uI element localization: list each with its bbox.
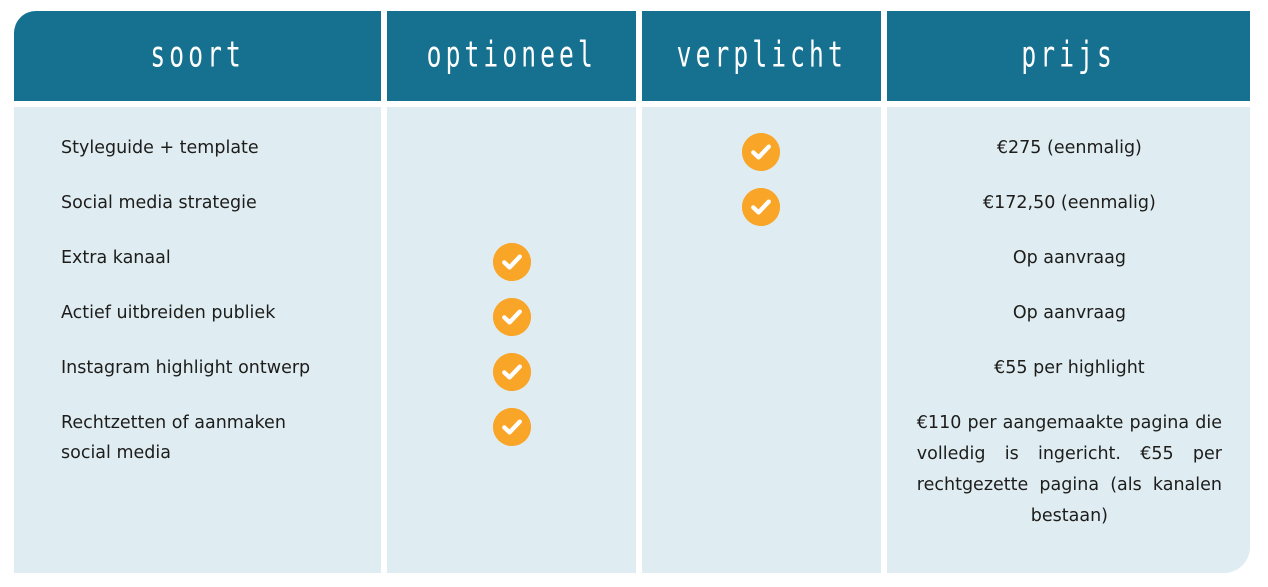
prijs-cell: €55 per highlight xyxy=(887,353,1250,383)
prijs-cell: €275 (eenmalig) xyxy=(887,133,1250,163)
column-header-label: verplicht xyxy=(676,38,846,73)
soort-value: Instagram highlight ontwerp xyxy=(61,358,310,378)
optioneel-cell xyxy=(387,408,636,446)
check-circle-icon xyxy=(493,298,531,336)
table-row: Instagram highlight ontwerp xyxy=(14,353,381,383)
prijs-cell: €110 per aangemaakte pagina die volledig… xyxy=(887,408,1250,532)
column-header-label: optioneel xyxy=(426,38,596,73)
check-circle-icon xyxy=(742,133,780,171)
prijs-cell: Op aanvraag xyxy=(887,243,1250,273)
column-header-label: soort xyxy=(150,38,245,73)
soort-value: Social media strategie xyxy=(61,193,257,213)
prijs-value: Op aanvraag xyxy=(1013,303,1126,323)
column-body-prijs: €275 (eenmalig) €172,50 (eenmalig) Op aa… xyxy=(887,107,1250,573)
column-header-soort: soort xyxy=(14,11,381,101)
optioneel-cell xyxy=(387,298,636,336)
column-body-optioneel xyxy=(387,107,636,573)
prijs-value: Op aanvraag xyxy=(1013,248,1126,268)
prijs-cell: Op aanvraag xyxy=(887,298,1250,328)
column-body-verplicht xyxy=(642,107,881,573)
check-circle-icon xyxy=(493,408,531,446)
column-header-verplicht: verplicht xyxy=(642,11,881,101)
check-circle-icon xyxy=(742,188,780,226)
table-row: Rechtzetten of aanmaken social media xyxy=(14,408,381,468)
prijs-value: €172,50 (eenmalig) xyxy=(983,193,1156,213)
prijs-value: €55 per highlight xyxy=(994,358,1145,378)
column-header-prijs: prijs xyxy=(887,11,1250,101)
soort-value: Extra kanaal xyxy=(61,248,171,268)
column-body-soort: Styleguide + template Social media strat… xyxy=(14,107,381,573)
table-body: Styleguide + template Social media strat… xyxy=(14,107,1250,573)
soort-value: Rechtzetten of aanmaken social media xyxy=(61,413,286,463)
check-circle-icon xyxy=(493,353,531,391)
table-row: Social media strategie xyxy=(14,188,381,218)
table-row: Actief uitbreiden publiek xyxy=(14,298,381,328)
optioneel-cell xyxy=(387,353,636,391)
optioneel-cell xyxy=(387,243,636,281)
prijs-cell: €172,50 (eenmalig) xyxy=(887,188,1250,218)
soort-value: Actief uitbreiden publiek xyxy=(61,303,275,323)
soort-value: Styleguide + template xyxy=(61,138,259,158)
prijs-value: €275 (eenmalig) xyxy=(997,138,1142,158)
column-header-optioneel: optioneel xyxy=(387,11,636,101)
table-row: Styleguide + template xyxy=(14,133,381,163)
column-header-label: prijs xyxy=(1021,38,1116,73)
table-row: Extra kanaal xyxy=(14,243,381,273)
check-circle-icon xyxy=(493,243,531,281)
pricing-table: soort optioneel verplicht prijs Stylegui… xyxy=(14,11,1250,573)
verplicht-cell xyxy=(642,133,881,171)
table-header-row: soort optioneel verplicht prijs xyxy=(14,11,1250,101)
verplicht-cell xyxy=(642,188,881,226)
